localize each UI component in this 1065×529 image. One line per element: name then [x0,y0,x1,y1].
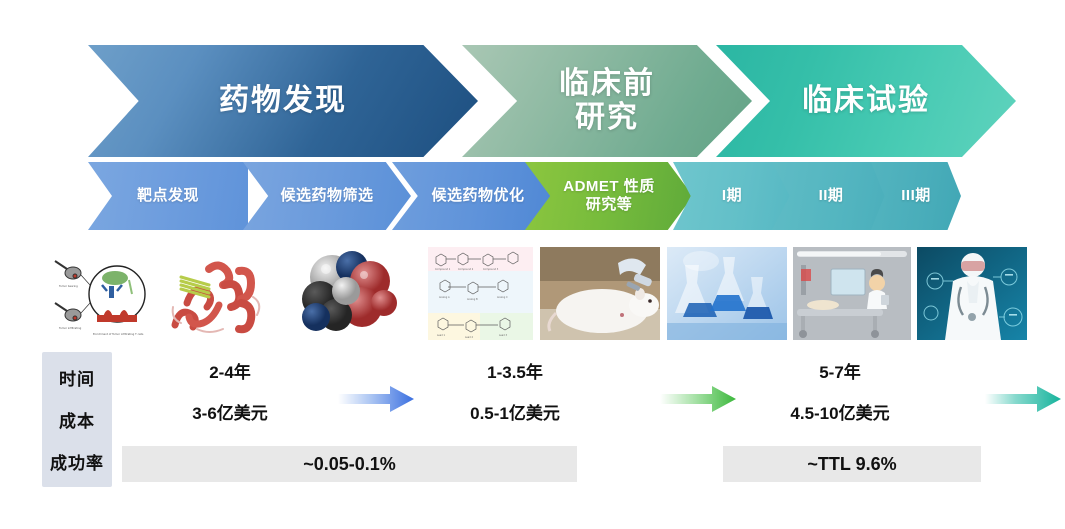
metric-success-rate-clinical-value: ~TTL 9.6% [807,454,896,475]
pipeline-stage-row: 药物发现 临床前 研究 临床试验 [0,45,1065,157]
metrics-section: 时间 成本 成功率 2-4年 1-3.5年 5-7年 3-6亿美元 0.5-1亿… [0,352,1065,492]
stage-drug-discovery-label: 药物发现 [219,84,347,118]
metrics-label-cost: 成本 [59,407,95,432]
protein-ribbon-structure [167,247,277,340]
substage-candidate-optimization-label: 候选药物优化 [431,187,524,205]
target-identification-diagram: Tumor bearing Tumor infiltrating Enrichm… [45,247,155,340]
substage-admet-studies-label: ADMET 性质 研究等 [563,178,655,214]
stage-clinical-trials[interactable]: 临床试验 [716,45,1016,157]
svg-text:Compound 2: Compound 2 [458,268,474,271]
metric-success-rate-discovery-value: ~0.05-0.1% [303,454,396,475]
svg-text:Lead 1: Lead 1 [437,334,446,337]
svg-text:Compound 1: Compound 1 [435,268,451,271]
stage-preclinical-research[interactable]: 临床前 研究 [462,45,752,157]
metric-cost-discovery: 3-6亿美元 [150,399,310,424]
substage-phase-3[interactable]: III期 [871,162,961,230]
svg-text:Analog A: Analog A [439,296,450,299]
substage-phase-1-label: I期 [722,187,742,205]
metric-time-discovery: 2-4年 [150,358,310,383]
stage-preclinical-research-label: 临床前 研究 [559,67,655,134]
hospital-ward-illustration [793,247,911,340]
metrics-label-success-rate: 成功率 [50,449,104,474]
laboratory-flasks-photo [667,247,787,340]
doctor-digital-interface [917,247,1027,340]
svg-text:Enrichment of Tumor infiltrati: Enrichment of Tumor infiltrating T cells [93,332,144,336]
molecular-spacefill-model [290,247,420,340]
svg-text:Tumor bearing: Tumor bearing [59,284,78,288]
metric-cost-preclinical: 0.5-1亿美元 [435,399,595,424]
metrics-label-time: 时间 [59,365,95,390]
substage-phase-1[interactable]: I期 [673,162,791,230]
arrow-preclinical-to-clinical-icon [660,384,736,414]
metric-time-preclinical: 1-3.5年 [435,358,595,383]
svg-text:Lead 2: Lead 2 [465,336,474,339]
substage-target-discovery[interactable]: 靶点发现 [88,162,248,230]
chemical-structures-sheet: Compound 1 Compound 2 Compound 3 Analog … [428,247,533,340]
substage-target-discovery-label: 靶点发现 [137,187,199,205]
svg-text:Analog B: Analog B [467,298,478,301]
arrow-clinical-to-market-icon [985,384,1061,414]
stage-illustration-strip: Tumor bearing Tumor infiltrating Enrichm… [0,247,1065,340]
pipeline-substage-row: 靶点发现 候选药物筛选 候选药物优化 ADMET 性质 研究等 I期 II期 I… [0,162,1065,230]
metric-success-rate-discovery: ~0.05-0.1% [122,446,577,482]
metrics-row-labels: 时间 成本 成功率 [42,352,112,487]
laboratory-mouse-photo [540,247,660,340]
metric-time-clinical: 5-7年 [760,358,920,383]
svg-text:Compound 3: Compound 3 [483,268,499,271]
substage-candidate-screening[interactable]: 候选药物筛选 [243,162,411,230]
substage-candidate-screening-label: 候选药物筛选 [280,187,373,205]
svg-text:Analog C: Analog C [497,296,508,299]
substage-admet-studies[interactable]: ADMET 性质 研究等 [525,162,693,230]
substage-phase-2-label: II期 [819,187,844,205]
svg-text:Tumor infiltrating: Tumor infiltrating [59,326,82,330]
substage-phase-3-label: III期 [901,187,931,205]
arrow-discovery-to-preclinical-icon [338,384,414,414]
svg-text:Lead 3: Lead 3 [499,334,508,337]
metric-success-rate-clinical: ~TTL 9.6% [723,446,981,482]
stage-drug-discovery[interactable]: 药物发现 [88,45,478,157]
metric-cost-clinical: 4.5-10亿美元 [760,399,920,424]
substage-phase-2[interactable]: II期 [772,162,890,230]
stage-clinical-trials-label: 临床试验 [802,84,930,118]
